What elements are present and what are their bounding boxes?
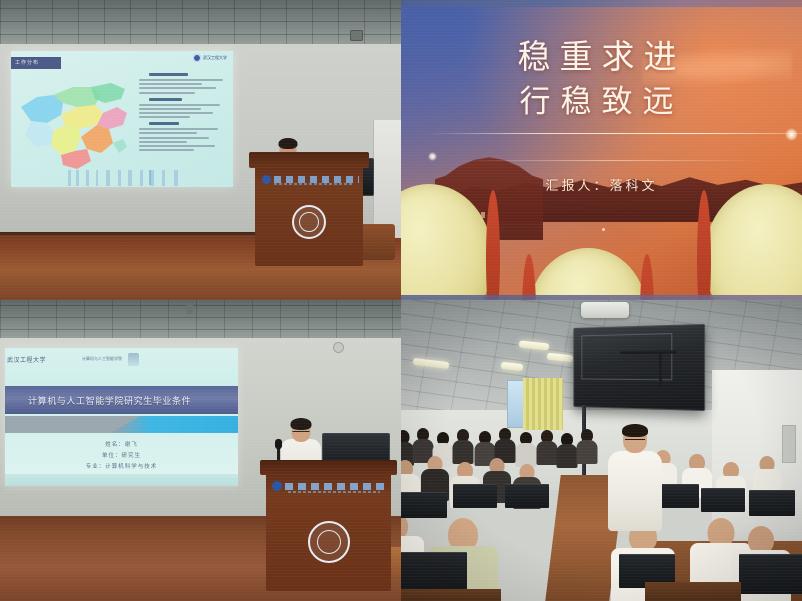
slide-notes-block [139, 69, 227, 173]
panel-bottom-right [401, 300, 802, 601]
panel-bottom-left: 武汉工程大学 计算机与人工智能学院 计算机与人工智能学院研究生毕业条件 姓名：谢… [0, 300, 401, 601]
window-curtain [523, 378, 563, 430]
slide-tower-icon [149, 170, 151, 185]
speaker-hair [291, 418, 312, 430]
ceiling-tiles [0, 300, 401, 342]
desk-monitor [701, 488, 745, 512]
desk-monitor [401, 552, 467, 592]
projected-slide-graduation: 武汉工程大学 计算机与人工智能学院 计算机与人工智能学院研究生毕业条件 姓名：谢… [5, 348, 238, 486]
air-conditioner-unit [373, 120, 401, 238]
ceiling-tiles [0, 0, 401, 48]
podium-logo-icon [262, 175, 271, 184]
slide-accent-band [5, 416, 238, 433]
projected-slide-map: 工作分布 武汉工程大学 [11, 51, 233, 187]
slide-logo-text: 武汉工程大学 [203, 55, 227, 61]
speaker-hair [279, 138, 298, 149]
podium [266, 469, 391, 591]
slide-header-label: 工作分布 [11, 57, 61, 69]
ceiling-mounted-display [573, 324, 705, 411]
standing-student-hair [622, 424, 648, 437]
slide-logo-main: 武汉工程大学 [7, 355, 46, 364]
slide-meta-line-1: 姓名：谢飞 [5, 440, 238, 451]
slide-title-block: 稳重求进 行稳致远 [401, 36, 802, 124]
podium-name-text [274, 176, 359, 183]
slide-meta-block: 姓名：谢飞 单位：研究生 专业：计算机科学与技术 [5, 440, 238, 473]
glasses-icon [293, 431, 310, 435]
desk-monitor [739, 554, 802, 594]
slide-top-edge [401, 0, 802, 7]
display-mount-arm [620, 351, 676, 355]
slide-title-text: 计算机与人工智能学院研究生毕业条件 [5, 394, 191, 407]
slide-dot-marker [602, 228, 605, 231]
university-seal-icon [308, 521, 350, 563]
display-mount-post [659, 351, 662, 388]
slide-skyline-graphic [62, 170, 182, 186]
glasses-icon [625, 439, 645, 443]
standing-student-torso [608, 451, 662, 531]
sparkle-icon-right [785, 128, 798, 141]
desk-monitor [401, 492, 447, 518]
podium [255, 161, 363, 266]
desk-monitor [749, 490, 795, 516]
sparkle-icon-left [428, 152, 437, 161]
slide-logo-sub: 计算机与人工智能学院 [82, 356, 122, 362]
podium-top [249, 152, 369, 168]
desk-monitor [453, 484, 497, 508]
slide-logo-row: 武汉工程大学 计算机与人工智能学院 [5, 351, 238, 367]
podium-nameplate [272, 479, 384, 493]
decorative-line-1 [427, 133, 802, 134]
slide-university-logo: 武汉工程大学 [193, 54, 227, 62]
panel-top-right: 稳重求进 行稳致远 汇报人：落科文 [401, 0, 802, 300]
notes-heading [149, 73, 188, 76]
podium-sub-text [274, 183, 354, 185]
slide-bottom-band [5, 474, 238, 486]
podium-sub-text [288, 491, 380, 493]
ceiling-sensor-icon [186, 305, 193, 314]
podium-top [260, 460, 397, 475]
slide-title-bar: 计算机与人工智能学院研究生毕业条件 [5, 386, 238, 414]
ceremonial-drum-center [529, 248, 647, 300]
ceiling-projector [581, 302, 629, 318]
logo-mark-icon [193, 54, 201, 62]
slide-title-line-1: 稳重求进 [401, 36, 802, 80]
desk-monitor [505, 484, 549, 508]
slide-meta-line-2: 单位：研究生 [5, 451, 238, 462]
podium-name-text [285, 483, 384, 490]
slide-meta-line-3: 专业：计算机科学与技术 [5, 462, 238, 473]
podium-nameplate [259, 171, 359, 187]
university-seal-icon [292, 205, 326, 239]
desk-surface [401, 589, 501, 601]
photo-collage: 工作分布 武汉工程大学 [0, 0, 802, 601]
slide-title-line-2: 行稳致远 [401, 80, 802, 124]
slide-logo-mark-icon [128, 353, 139, 366]
wall-fixture-icon [333, 342, 344, 353]
china-map-graphic [17, 73, 137, 173]
panel-top-left: 工作分布 武汉工程大学 [0, 0, 401, 300]
decorative-line-2 [461, 160, 762, 161]
standing-student [607, 426, 663, 548]
audience-crowd [401, 426, 802, 601]
desk-surface [645, 582, 741, 601]
podium-logo-icon [272, 481, 282, 491]
